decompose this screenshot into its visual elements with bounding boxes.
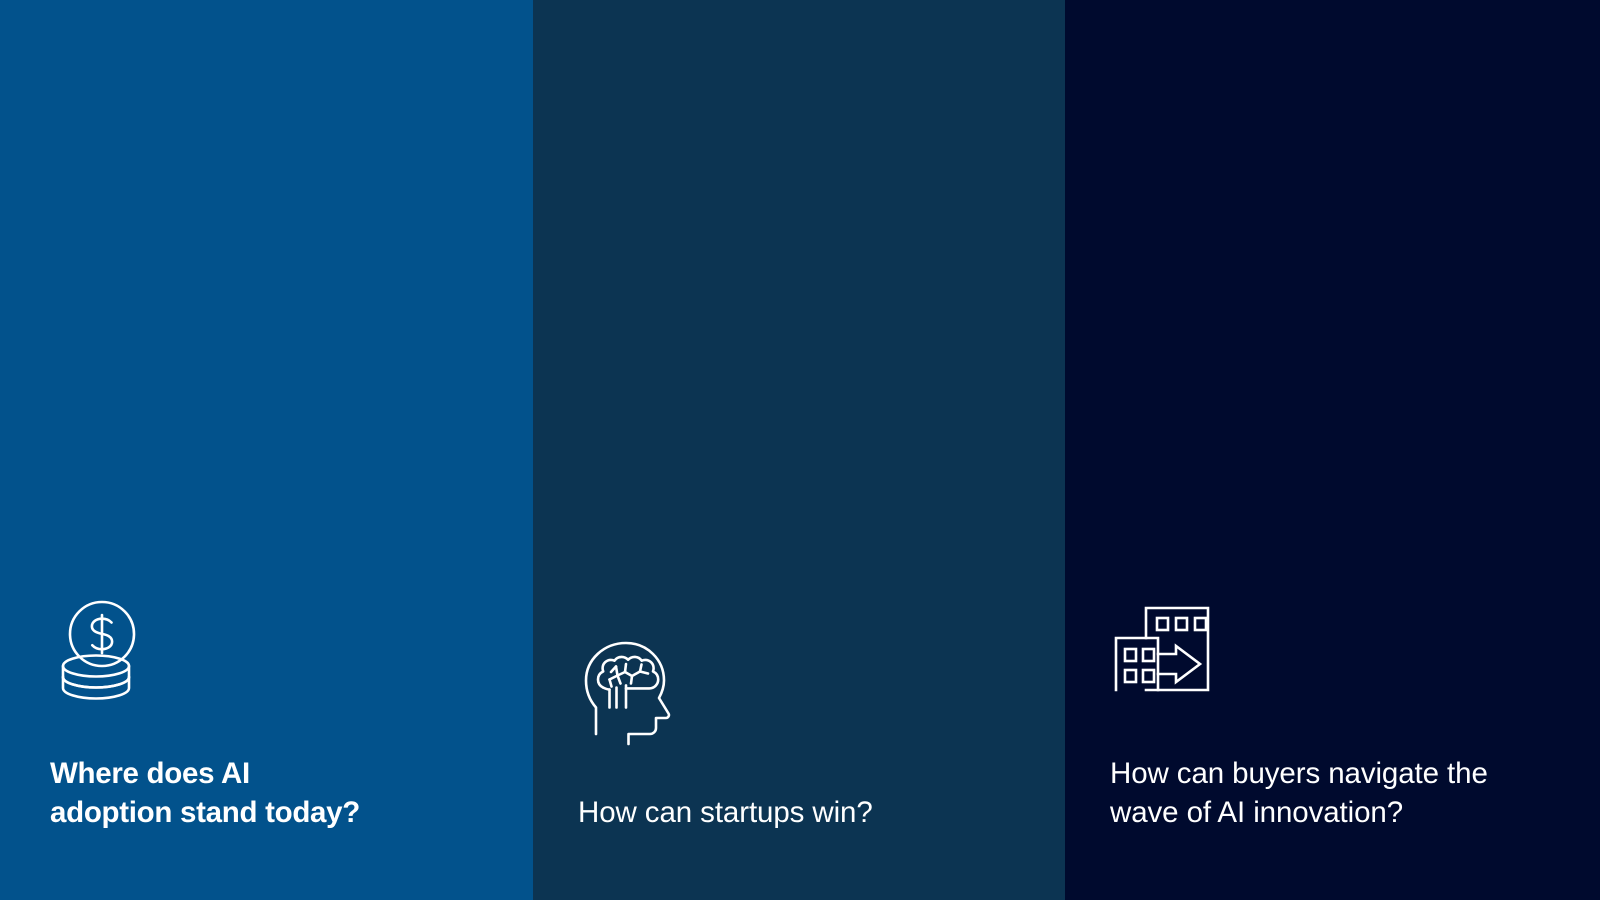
panel-title: Where does AI adoption stand today?: [50, 754, 493, 832]
panel-title: How can buyers navigate the wave of AI i…: [1110, 754, 1570, 832]
panel-startups[interactable]: How can startups win?: [533, 0, 1065, 900]
head-brain-icon: [578, 635, 688, 745]
slide-canvas: Where does AI adoption stand today?: [0, 0, 1600, 900]
panel-ai-adoption[interactable]: Where does AI adoption stand today?: [0, 0, 533, 900]
panel-content: How can buyers navigate the wave of AI i…: [1065, 596, 1600, 900]
panel-content: How can startups win?: [533, 635, 1065, 900]
building-arrow-icon: [1110, 596, 1220, 706]
panel-buyers[interactable]: How can buyers navigate the wave of AI i…: [1065, 0, 1600, 900]
coin-stack-dollar-icon: [50, 596, 160, 706]
panel-content: Where does AI adoption stand today?: [0, 596, 533, 900]
panel-title: How can startups win?: [578, 793, 1025, 832]
